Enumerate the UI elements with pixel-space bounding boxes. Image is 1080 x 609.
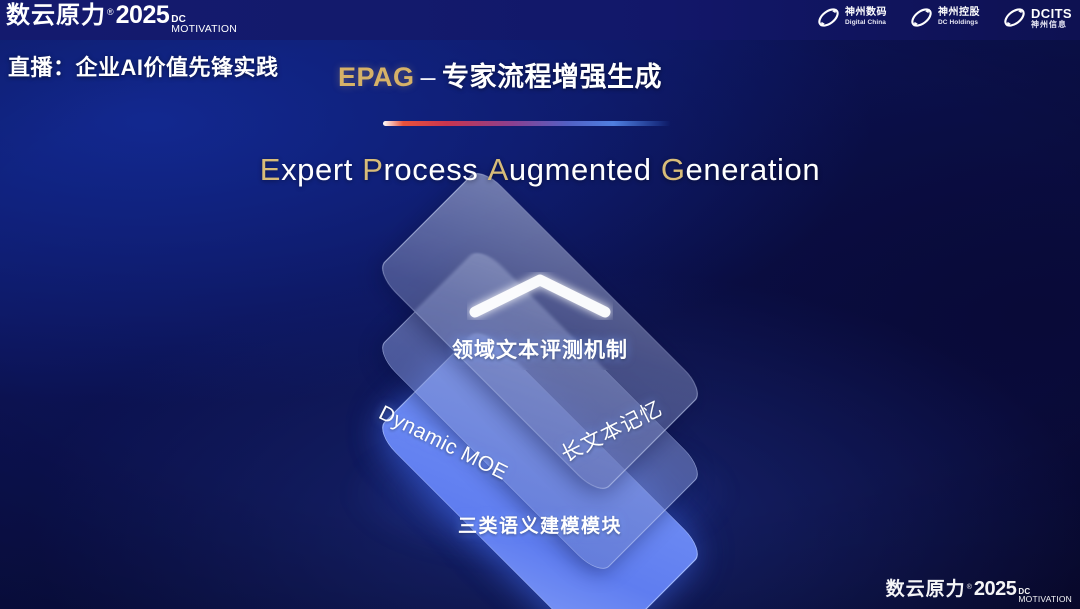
watermark-year: 2025 bbox=[974, 579, 1017, 599]
headline-separator: – bbox=[421, 62, 437, 92]
layer-label-bottom: 三类语义建模模块 bbox=[0, 511, 1080, 538]
partner-name-en: Digital China bbox=[845, 20, 887, 27]
headline-acronym: EPAG bbox=[338, 62, 415, 92]
brand-logo-year: 2025 bbox=[116, 3, 170, 28]
subtitle-rest-augmented: ugmented bbox=[509, 152, 652, 187]
brand-logo-dc-motivation: DC MOTIVATION bbox=[171, 15, 237, 35]
brand-logo-motivation: MOTIVATION bbox=[171, 24, 237, 35]
partner-name-cn: 神州控股 bbox=[938, 8, 980, 18]
brand-logo-cn: 数云原力 bbox=[6, 4, 106, 28]
header-bar: 数云原力 ® 2025 DC MOTIVATION 神州数码 bbox=[0, 0, 1080, 40]
watermark-logo: 数云原力 ® 2025 DC MOTIVATION bbox=[886, 579, 1072, 605]
headline-chinese: 专家流程增强生成 bbox=[442, 62, 662, 92]
swirl-logo-icon bbox=[1002, 5, 1027, 30]
subtitle-rest-generation: eneration bbox=[686, 152, 821, 187]
live-stream-title: 直播：企业AI价值先锋实践 bbox=[8, 50, 279, 82]
partner-logo-text: DCITS 神州信息 bbox=[1031, 7, 1072, 29]
subtitle-rest-process: rocess bbox=[384, 152, 479, 187]
watermark-cn: 数云原力 bbox=[886, 580, 966, 599]
swirl-logo-icon bbox=[909, 5, 934, 30]
watermark-dc-motivation: DC MOTIVATION bbox=[1018, 588, 1072, 604]
partner-logo-digital-china: 神州数码 Digital China bbox=[816, 5, 887, 30]
watermark-registered: ® bbox=[967, 584, 972, 591]
page-title: EPAG–专家流程增强生成 bbox=[338, 55, 662, 94]
subtitle-cap-a: A bbox=[488, 152, 509, 187]
partner-logo-text: 神州数码 Digital China bbox=[845, 8, 887, 27]
subtitle-rest-expert: xpert bbox=[281, 152, 353, 187]
partner-name-en: DC Holdings bbox=[938, 20, 980, 27]
swirl-logo-icon bbox=[816, 5, 841, 30]
watermark-motivation: MOTIVATION bbox=[1018, 595, 1072, 604]
partner-logo-dcits: DCITS 神州信息 bbox=[1002, 5, 1072, 30]
layer-label-top: 领域文本评测机制 bbox=[0, 334, 1080, 364]
brand-logo: 数云原力 ® 2025 DC MOTIVATION bbox=[6, 3, 237, 36]
partner-name-en: 神州信息 bbox=[1031, 21, 1072, 29]
subtitle: Expert Process Augmented Generation bbox=[0, 152, 1080, 188]
partner-logo-text: 神州控股 DC Holdings bbox=[938, 8, 980, 27]
subtitle-cap-p: P bbox=[362, 152, 383, 187]
partner-logos: 神州数码 Digital China 神州控股 DC Holdings bbox=[816, 5, 1072, 30]
partner-name-cn: 神州数码 bbox=[845, 8, 887, 18]
slide-stage: 数云原力 ® 2025 DC MOTIVATION 神州数码 bbox=[0, 0, 1080, 609]
subtitle-cap-g: G bbox=[661, 152, 686, 187]
brand-logo-registered: ® bbox=[107, 7, 114, 17]
partner-name-cn: DCITS bbox=[1031, 7, 1072, 20]
partner-logo-dc-holdings: 神州控股 DC Holdings bbox=[909, 5, 980, 30]
subtitle-cap-e: E bbox=[260, 152, 281, 187]
gradient-divider bbox=[383, 121, 671, 126]
